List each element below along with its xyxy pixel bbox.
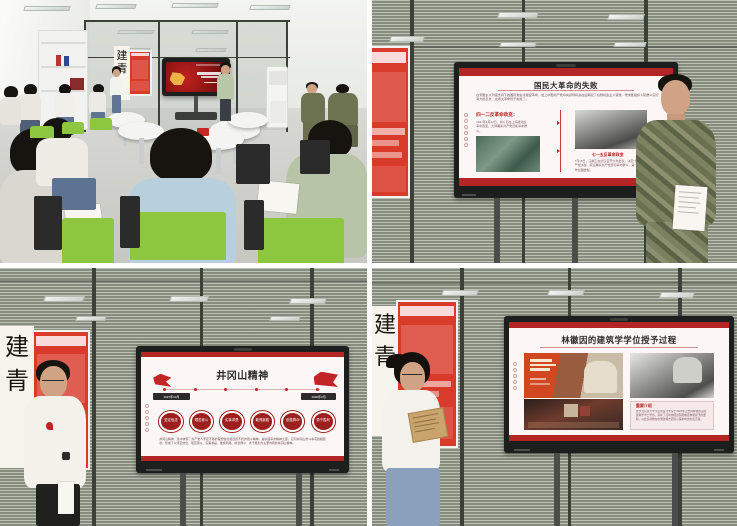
- panel-bottom-left: 建青 井冈山精神: [0, 268, 367, 526]
- presenter-in-uniform: [634, 74, 722, 263]
- ceiling-light: [499, 42, 537, 47]
- timeline-dot: [163, 388, 166, 391]
- slide-bullet-dots: [145, 404, 149, 432]
- presenter: [214, 62, 236, 120]
- poster-text-line: [372, 128, 405, 135]
- slide-body-text: 在帝国主义列强支持下的国民党右派叛变革命，加上中国共产党中央领导机关在后期犯了右…: [476, 93, 660, 102]
- presenter: [24, 360, 92, 526]
- presentation-display[interactable]: 井冈山精神 1927年10月 1930年2月: [136, 346, 349, 473]
- air-conditioner: [266, 66, 288, 128]
- poster-text-line: [372, 152, 402, 158]
- ceiling-light: [613, 42, 647, 47]
- timeline-dot: [285, 388, 288, 391]
- torso: [24, 396, 86, 488]
- poster-photo-area: [372, 72, 406, 122]
- slide-top-band: [509, 322, 729, 328]
- panel-top-right: 国民大革命的失败 在帝国主义列强支持下的国民党右派叛变革命，加上中国共产党中央领…: [372, 0, 737, 263]
- poster-photo-area: [132, 60, 148, 79]
- slide-note-text: 宾夕法尼亚大学韦茨曼设计学院于2022年正式向林徽因追授建筑学学士学位，弥补了百…: [636, 410, 708, 422]
- torso: [110, 77, 122, 96]
- chair: [130, 212, 226, 260]
- ceiling-light: [95, 4, 137, 9]
- chair: [30, 126, 54, 138]
- display-camera-bar: [556, 64, 576, 67]
- spirit-node: 艰苦奋斗: [190, 411, 213, 432]
- torso: [0, 97, 21, 125]
- poster-header-bar: [400, 306, 453, 316]
- chair-arm: [34, 196, 62, 250]
- legs: [112, 95, 121, 113]
- ceiling-light: [607, 14, 645, 20]
- spirit-node: 敢闯新路: [251, 411, 274, 432]
- torso: [217, 74, 234, 100]
- mullion: [84, 20, 290, 22]
- display-camera-bar: [610, 318, 628, 321]
- red-event-poster: [128, 50, 152, 96]
- display-indicator: [329, 469, 339, 471]
- torso-camouflage: [301, 93, 325, 123]
- display-stand-pole: [494, 198, 500, 263]
- ceiling-light: [269, 316, 301, 321]
- slide-note-box: 重要介绍 宾夕法尼亚大学韦茨曼设计学院于2022年正式向林徽因追授建筑学学士学位…: [630, 401, 714, 431]
- slide-section-text: 1927年4月12日，蒋介石在上海发动反革命政变，大肆屠杀共产党员和革命群众。: [476, 120, 527, 133]
- spirit-node: 依靠群众: [281, 411, 304, 432]
- timeline-marker: [557, 149, 560, 153]
- classroom-wide-shot: 建青: [0, 0, 367, 263]
- ceiling-light: [75, 316, 107, 321]
- ceiling-light: [171, 3, 219, 8]
- slide-bottom-band: [509, 435, 729, 441]
- slide-bullet-dots: [513, 362, 517, 390]
- hair-bun: [386, 354, 404, 368]
- presentation-display[interactable]: 林徽因的建筑学学位授予过程: [504, 316, 734, 453]
- head: [113, 69, 120, 77]
- tshirt-emblem: [46, 422, 53, 430]
- timeline-dot: [224, 388, 227, 391]
- slide-bullet-dots: [464, 113, 468, 147]
- timeline-dot: [194, 388, 197, 391]
- spirit-node: 勇于胜利: [312, 411, 335, 432]
- display-stand-pole: [180, 473, 186, 526]
- mullion: [158, 20, 160, 132]
- head: [661, 80, 690, 116]
- mullion: [92, 268, 96, 526]
- presentation-clicker[interactable]: [62, 452, 70, 460]
- presenter: [380, 352, 456, 526]
- shelf-divider: [41, 66, 85, 68]
- chair: [90, 118, 112, 130]
- mullion: [0, 280, 367, 282]
- chair: [258, 218, 344, 263]
- mullion: [372, 282, 737, 284]
- slide-title: 井冈山精神: [141, 367, 344, 382]
- poster-header-bar: [131, 53, 149, 56]
- slide-footer-text: 井冈山精神，集中体现了共产党人坚定不移的理想信念和百折不挠的奋斗精神，是中国革命…: [159, 437, 325, 445]
- slide-lin-huiyin-degree: 林徽因的建筑学学位授予过程: [509, 322, 729, 441]
- title-underline: [540, 347, 698, 348]
- shelf-item: [64, 56, 69, 66]
- soldier-presenting-shot: 国民大革命的失败 在帝国主义列强支持下的国民党右派叛变革命，加上中国共产党中央领…: [372, 0, 737, 263]
- slide-right-caption: 七一五反革命政变: [592, 152, 624, 158]
- glasses-icon: [42, 380, 64, 384]
- hair: [336, 84, 349, 93]
- ceiling-light: [547, 290, 585, 296]
- display-stand-base: [175, 112, 217, 120]
- slide-jinggangshan-spirit: 井冈山精神 1927年10月 1930年2月: [141, 352, 344, 461]
- slide-top-band: [141, 352, 344, 357]
- ac-panel: [270, 101, 286, 123]
- photo-collage: 建青: [0, 0, 737, 526]
- clipboard[interactable]: [408, 407, 449, 443]
- chair: [62, 218, 114, 263]
- timeline-axis: [165, 389, 319, 390]
- poster-header-bar: [36, 336, 86, 346]
- display-screen: 井冈山精神 1927年10月 1930年2月: [141, 352, 344, 461]
- glasses-icon: [402, 374, 422, 378]
- standing-attendee: [108, 66, 124, 112]
- chair-arm: [244, 200, 264, 250]
- legs: [220, 99, 231, 121]
- slide-bottom-band: [141, 456, 344, 461]
- display-screen: 林徽因的建筑学学位授予过程: [509, 322, 729, 441]
- ceiling-light: [441, 290, 479, 296]
- display-stand-pole: [296, 473, 302, 526]
- poster-header-bar: [372, 52, 406, 62]
- torso: [89, 92, 106, 114]
- display-control-strip[interactable]: [514, 449, 530, 451]
- panel-bottom-right: 建青 林徽因的建筑学学位授予过程: [372, 268, 737, 526]
- slide-timeline-axis: [560, 110, 561, 171]
- student-presenting-jinggangshan: 建青 井冈山精神: [0, 268, 367, 526]
- ceiling-light: [659, 292, 695, 298]
- panel-top-left: 建青: [0, 0, 367, 263]
- display-stand-pole: [554, 453, 560, 526]
- display-control-strip[interactable]: [146, 469, 162, 471]
- slide-title: 林徽因的建筑学学位授予过程: [509, 334, 729, 346]
- display-stand-pole: [672, 453, 678, 526]
- timeline-dot: [316, 388, 319, 391]
- ceiling-light: [497, 12, 539, 18]
- poster-calendar-grid: [372, 166, 406, 191]
- ac-vent: [269, 71, 287, 85]
- ceiling-light: [289, 298, 327, 304]
- slide-photo-stage: [524, 399, 623, 430]
- chair: [62, 122, 84, 134]
- timeline-chip-end: 1930年2月: [301, 393, 336, 400]
- ceiling-light: [43, 296, 85, 302]
- ceiling-light: [389, 36, 425, 42]
- chair-arm: [120, 196, 140, 248]
- mullion: [460, 268, 464, 526]
- display-stand-pole: [572, 198, 578, 263]
- chair-arm: [236, 144, 270, 184]
- poster-text-line: [372, 140, 399, 146]
- poster-calendar-grid: [131, 81, 149, 92]
- display-camera-bar: [234, 348, 252, 351]
- timeline-chip-start: 1927年10月: [153, 393, 190, 400]
- shelf-item: [56, 55, 61, 66]
- slide-note-heading: 重要介绍: [636, 403, 652, 409]
- shelf-divider: [41, 42, 85, 44]
- display-control-strip[interactable]: [462, 194, 476, 196]
- hair: [150, 128, 212, 182]
- ceiling-light: [169, 296, 209, 302]
- chair-arm: [300, 140, 330, 174]
- ceiling-light: [23, 6, 71, 11]
- title-underline: [498, 90, 635, 91]
- script-papers: [673, 185, 708, 231]
- mullion: [372, 46, 737, 48]
- ceiling-light: [249, 5, 291, 10]
- slide-section-heading: 四一二反革命政变：: [476, 112, 517, 118]
- script-papers: [58, 482, 74, 514]
- spirit-node: 坚定信念: [159, 411, 182, 432]
- slide-photo-ceremony-poster: [524, 353, 623, 398]
- red-event-poster: [372, 46, 410, 198]
- student-presenting-linhuiyin: 建青 林徽因的建筑学学位授予过程: [372, 268, 737, 526]
- timeline-dot: [255, 388, 258, 391]
- spirit-node: 实事求是: [220, 411, 243, 432]
- slide-photo-archival-portrait: [630, 353, 714, 398]
- torso: [54, 93, 75, 119]
- timeline-marker: [557, 121, 560, 125]
- slide-photo-left: [476, 136, 540, 171]
- display-indicator: [714, 449, 724, 451]
- legs-jeans: [386, 468, 440, 526]
